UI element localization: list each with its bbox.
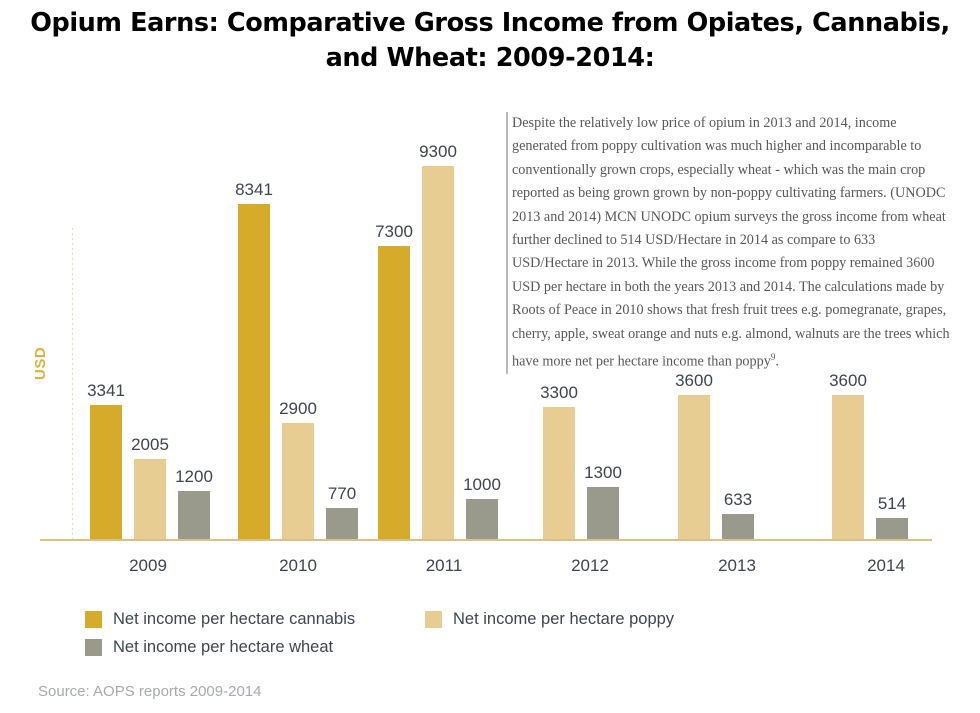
bar-value-label-poppy-2010: 2900	[279, 399, 317, 419]
bar-poppy-2009[interactable]: 2005	[134, 159, 166, 539]
bar-value-label-cannabis-2011: 7300	[375, 222, 413, 242]
legend-item-cannabis[interactable]: Net income per hectare cannabis	[85, 610, 425, 629]
side-note-period: .	[775, 354, 779, 370]
bar-value-label-wheat-2013: 633	[724, 490, 752, 510]
bar-group-2010: 83412900770	[238, 159, 358, 539]
legend-item-poppy[interactable]: Net income per hectare poppy	[425, 610, 674, 629]
x-axis-tick-2013: 2013	[677, 556, 797, 576]
bar-value-label-poppy-2011: 9300	[419, 142, 457, 162]
bar-rect-cannabis-2011[interactable]	[378, 246, 410, 539]
bar-rect-wheat-2010[interactable]	[326, 508, 358, 539]
bar-rect-poppy-2014[interactable]	[832, 395, 864, 539]
bar-rect-poppy-2011[interactable]	[422, 166, 454, 539]
side-note-paragraph: Despite the relatively low price of opiu…	[506, 112, 950, 374]
bar-rect-cannabis-2009[interactable]	[90, 405, 122, 539]
bar-value-label-wheat-2010: 770	[328, 484, 356, 504]
bar-value-label-cannabis-2009: 3341	[87, 381, 125, 401]
bar-wheat-2011[interactable]: 1000	[466, 159, 498, 539]
legend-label-cannabis: Net income per hectare cannabis	[113, 610, 355, 629]
y-axis-label: USD	[32, 300, 49, 380]
legend-row-1: Net income per hectare cannabis Net inco…	[85, 610, 805, 638]
bar-rect-wheat-2014[interactable]	[876, 518, 908, 539]
bar-poppy-2010[interactable]: 2900	[282, 159, 314, 539]
bar-group-2009: 334120051200	[90, 159, 210, 539]
bar-poppy-2011[interactable]: 9300	[422, 159, 454, 539]
bar-group-2011: 730093001000	[378, 159, 498, 539]
bar-value-label-poppy-2009: 2005	[131, 435, 169, 455]
bar-rect-wheat-2013[interactable]	[722, 514, 754, 539]
legend-swatch-cannabis-icon	[85, 611, 102, 628]
chart-legend: Net income per hectare cannabis Net inco…	[85, 610, 805, 666]
legend-label-poppy: Net income per hectare poppy	[453, 610, 674, 629]
x-axis-tick-2012: 2012	[530, 556, 650, 576]
legend-item-wheat[interactable]: Net income per hectare wheat	[85, 638, 425, 657]
bar-cannabis-2011[interactable]: 7300	[378, 159, 410, 539]
bar-value-label-wheat-2011: 1000	[463, 475, 501, 495]
bar-value-label-poppy-2012: 3300	[540, 383, 578, 403]
source-caption: Source: AOPS reports 2009-2014	[38, 683, 261, 700]
bar-rect-wheat-2009[interactable]	[178, 491, 210, 539]
bar-rect-poppy-2009[interactable]	[134, 459, 166, 539]
legend-swatch-poppy-icon	[425, 611, 442, 628]
bar-value-label-wheat-2014: 514	[878, 494, 906, 514]
x-axis-tick-2010: 2010	[238, 556, 358, 576]
bar-rect-poppy-2012[interactable]	[543, 407, 575, 539]
legend-row-2: Net income per hectare wheat	[85, 638, 805, 666]
x-axis-tick-2011: 2011	[384, 556, 504, 576]
bar-rect-wheat-2011[interactable]	[466, 499, 498, 539]
legend-label-wheat: Net income per hectare wheat	[113, 638, 333, 657]
bar-value-label-cannabis-2010: 8341	[235, 180, 273, 200]
x-axis-tick-2014: 2014	[826, 556, 946, 576]
bar-cannabis-2010[interactable]: 8341	[238, 159, 270, 539]
bar-rect-cannabis-2010[interactable]	[238, 204, 270, 539]
x-axis-baseline	[40, 539, 932, 541]
bar-wheat-2009[interactable]: 1200	[178, 159, 210, 539]
bar-value-label-wheat-2012: 1300	[584, 463, 622, 483]
bar-rect-poppy-2010[interactable]	[282, 423, 314, 539]
y-axis-dotted-line	[72, 228, 73, 539]
bar-cannabis-2009[interactable]: 3341	[90, 159, 122, 539]
bar-value-label-wheat-2009: 1200	[175, 467, 213, 487]
bar-rect-wheat-2012[interactable]	[587, 487, 619, 539]
bar-wheat-2010[interactable]: 770	[326, 159, 358, 539]
x-axis-tick-2009: 2009	[88, 556, 208, 576]
side-note-text: Despite the relatively low price of opiu…	[512, 115, 950, 370]
page-title: Opium Earns: Comparative Gross Income fr…	[0, 6, 980, 76]
bar-rect-poppy-2013[interactable]	[678, 395, 710, 539]
legend-swatch-wheat-icon	[85, 639, 102, 656]
